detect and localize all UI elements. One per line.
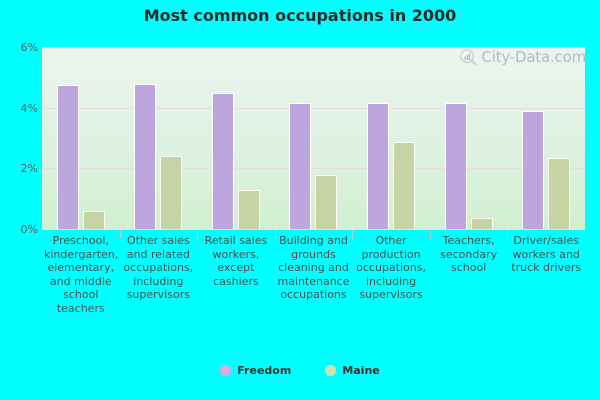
category-separator <box>507 230 508 239</box>
y-axis: 6% 4% 2% 0% <box>0 47 38 237</box>
bar-group <box>120 47 198 229</box>
bar-maine-4[interactable] <box>393 142 415 229</box>
magnifier-chart-icon <box>460 49 477 66</box>
watermark-text: City-Data.com <box>481 48 586 66</box>
bar-freedom-1[interactable] <box>134 84 156 229</box>
bar-maine-3[interactable] <box>315 175 337 229</box>
category-separator <box>197 230 198 239</box>
bar-group <box>430 47 508 229</box>
bar-freedom-2[interactable] <box>212 93 234 229</box>
bar-group <box>352 47 430 229</box>
x-axis-line <box>42 229 585 230</box>
bar-freedom-4[interactable] <box>367 103 389 229</box>
category-label-2: Retail sales workers, except cashiers <box>199 234 273 288</box>
category-label-0: Preschool, kindergarten, elementary, and… <box>44 234 118 315</box>
legend-label-freedom: Freedom <box>237 364 291 377</box>
bar-group <box>42 47 120 229</box>
bar-maine-6[interactable] <box>548 158 570 229</box>
category-separator <box>430 230 431 239</box>
category-label-3: Building and grounds cleaning and mainte… <box>277 234 351 302</box>
bar-group <box>275 47 353 229</box>
legend-swatch-maine <box>325 365 336 376</box>
bar-maine-1[interactable] <box>160 156 182 229</box>
chart-legend: Freedom Maine <box>0 364 600 377</box>
bar-group <box>197 47 275 229</box>
category-separator <box>275 230 276 239</box>
y-tick-label-4: 4% <box>2 102 38 115</box>
bar-group <box>507 47 585 229</box>
category-label-6: Driver/sales workers and truck drivers <box>509 234 583 275</box>
category-separator <box>120 230 121 239</box>
y-tick-label-0: 0% <box>2 223 38 236</box>
bar-maine-5[interactable] <box>471 218 493 229</box>
legend-label-maine: Maine <box>342 364 379 377</box>
category-label-5: Teachers, secondary school <box>432 234 506 275</box>
bar-maine-2[interactable] <box>238 190 260 229</box>
legend-swatch-freedom <box>220 365 231 376</box>
bar-maine-0[interactable] <box>83 211 105 229</box>
legend-item-maine[interactable]: Maine <box>325 364 379 377</box>
chart-title: Most common occupations in 2000 <box>0 6 600 25</box>
bar-chart: Most common occupations in 2000 6% 4% 2%… <box>0 0 600 400</box>
bar-freedom-3[interactable] <box>289 103 311 229</box>
bar-freedom-5[interactable] <box>445 103 467 229</box>
bar-freedom-0[interactable] <box>57 85 79 229</box>
bar-freedom-6[interactable] <box>522 111 544 229</box>
plot-area <box>42 47 585 229</box>
category-label-1: Other sales and related occupations, inc… <box>122 234 196 302</box>
y-tick-label-2: 2% <box>2 162 38 175</box>
category-separator <box>352 230 353 239</box>
y-tick-label-6: 6% <box>2 41 38 54</box>
legend-item-freedom[interactable]: Freedom <box>220 364 291 377</box>
category-label-4: Other production occupations, including … <box>354 234 428 302</box>
watermark: City-Data.com <box>460 48 586 66</box>
